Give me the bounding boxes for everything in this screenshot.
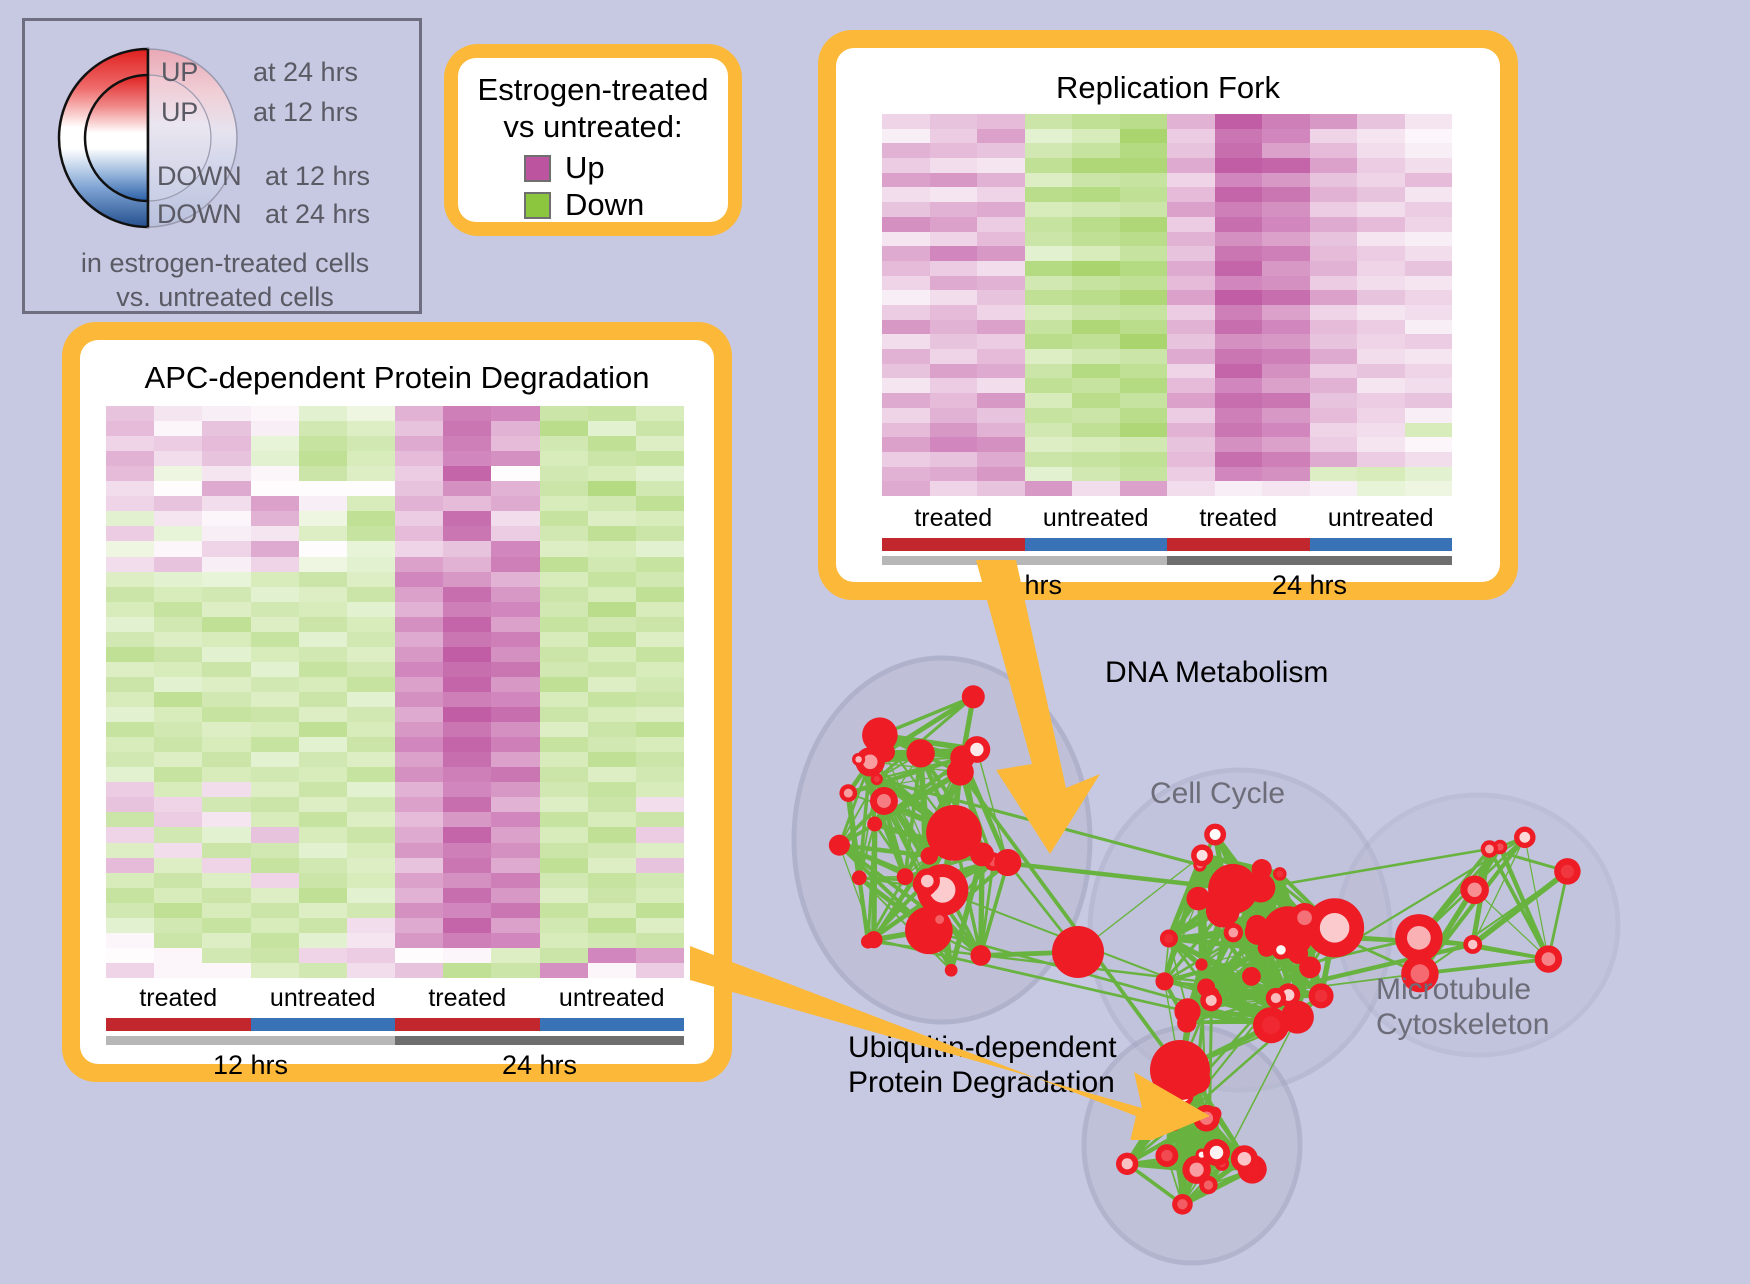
network-node[interactable]: [1252, 859, 1272, 879]
heatmap-cell: [491, 722, 539, 737]
heatmap-cell: [1262, 467, 1310, 482]
heatmap-cell: [540, 858, 588, 873]
heatmap-cell: [930, 452, 978, 467]
heatmap-cell: [882, 393, 930, 408]
heatmap-cell: [540, 587, 588, 602]
heatmap-cell: [1405, 467, 1453, 482]
condition-color-segment: [882, 538, 1025, 551]
updown-legend-title: Estrogen-treated vs untreated:: [458, 72, 728, 145]
network-node[interactable]: [867, 817, 882, 832]
heatmap-cell: [299, 918, 347, 933]
network-node[interactable]: [906, 739, 934, 767]
heatmap-cell: [202, 812, 250, 827]
heatmap-cell: [1072, 320, 1120, 335]
network-node[interactable]: [1271, 940, 1290, 959]
heatmap-cell: [588, 466, 636, 481]
heatmap-cell: [1262, 481, 1310, 496]
heatmap-cell: [930, 246, 978, 261]
heatmap-cell: [1405, 437, 1453, 452]
heatmap-cell: [347, 647, 395, 662]
network-node[interactable]: [839, 784, 857, 802]
heatmap-cell: [1262, 246, 1310, 261]
heatmap-cell: [1120, 261, 1168, 276]
heatmap-cell: [154, 557, 202, 572]
network-node[interactable]: [1514, 827, 1536, 849]
network-node[interactable]: [1231, 1145, 1258, 1172]
heatmap-cell: [347, 737, 395, 752]
heatmap-cell: [299, 587, 347, 602]
heatmap-cell: [540, 767, 588, 782]
heatmap-cell: [636, 617, 684, 632]
heatmap-cell: [1405, 408, 1453, 423]
heatmap-cell: [588, 903, 636, 918]
heatmap-cell: [977, 423, 1025, 438]
network-node[interactable]: [1535, 945, 1562, 972]
heatmap-cell: [540, 752, 588, 767]
heatmap-cell: [154, 481, 202, 496]
condition-color-segment: [1167, 538, 1310, 551]
heatmap-cell: [106, 722, 154, 737]
heatmap-cell: [251, 873, 299, 888]
heatmap-cell: [636, 647, 684, 662]
heatmap-cell: [154, 752, 202, 767]
heatmap-cell: [540, 496, 588, 511]
network-node[interactable]: [1463, 935, 1482, 954]
heatmap-cell: [1405, 378, 1453, 393]
heatmap-cell: [443, 827, 491, 842]
heatmap-cell: [588, 511, 636, 526]
heatmap-cell: [882, 364, 930, 379]
heatmap-cell: [1310, 481, 1358, 496]
heatmap-cell: [491, 451, 539, 466]
network-node[interactable]: [1266, 988, 1286, 1008]
heatmap-cell: [977, 290, 1025, 305]
heatmap-cell: [977, 467, 1025, 482]
condition-label: treated: [882, 504, 1025, 533]
network-node[interactable]: [1204, 824, 1226, 846]
replication-fork-heatmap: [882, 114, 1452, 496]
heatmap-cell: [1215, 187, 1263, 202]
colorwheel-footer-line1: in estrogen-treated cells: [25, 247, 425, 281]
heatmap-cell: [588, 827, 636, 842]
network-node[interactable]: [1309, 983, 1334, 1008]
network-node[interactable]: [870, 787, 898, 815]
apc-degradation-panel: APC-dependent Protein Degradation treate…: [62, 322, 732, 1082]
heatmap-cell: [1072, 276, 1120, 291]
heatmap-cell: [977, 187, 1025, 202]
heatmap-cell: [106, 662, 154, 677]
heatmap-cell: [540, 602, 588, 617]
heatmap-cell: [347, 496, 395, 511]
heatmap-cell: [154, 587, 202, 602]
heatmap-cell: [930, 290, 978, 305]
apc-degradation-heatmap: [106, 406, 684, 978]
heatmap-cell: [636, 436, 684, 451]
heatmap-cell: [1262, 276, 1310, 291]
heatmap-cell: [1025, 378, 1073, 393]
heatmap-cell: [1215, 452, 1263, 467]
network-node[interactable]: [1290, 903, 1319, 932]
heatmap-cell: [347, 677, 395, 692]
heatmap-cell: [1167, 423, 1215, 438]
heatmap-cell: [588, 722, 636, 737]
heatmap-cell: [202, 692, 250, 707]
heatmap-cell: [347, 466, 395, 481]
heatmap-cell: [347, 602, 395, 617]
heatmap-cell: [540, 617, 588, 632]
heatmap-cell: [588, 677, 636, 692]
heatmap-cell: [299, 812, 347, 827]
heatmap-cell: [930, 408, 978, 423]
heatmap-cell: [154, 406, 202, 421]
heatmap-cell: [106, 707, 154, 722]
heatmap-cell: [443, 541, 491, 556]
heatmap-cell: [1310, 437, 1358, 452]
heatmap-cell: [1215, 290, 1263, 305]
heatmap-cell: [251, 526, 299, 541]
heatmap-cell: [251, 888, 299, 903]
heatmap-cell: [395, 511, 443, 526]
heatmap-cell: [106, 421, 154, 436]
heatmap-cell: [251, 843, 299, 858]
network-node[interactable]: [871, 773, 883, 785]
heatmap-cell: [202, 948, 250, 963]
heatmap-cell: [202, 421, 250, 436]
heatmap-cell: [395, 737, 443, 752]
heatmap-cell: [636, 632, 684, 647]
heatmap-cell: [588, 557, 636, 572]
heatmap-cell: [1120, 305, 1168, 320]
heatmap-cell: [106, 692, 154, 707]
heatmap-cell: [1072, 481, 1120, 496]
heatmap-cell: [299, 602, 347, 617]
heatmap-cell: [395, 617, 443, 632]
heatmap-cell: [1120, 290, 1168, 305]
heatmap-cell: [1357, 202, 1405, 217]
heatmap-cell: [977, 158, 1025, 173]
heatmap-cell: [636, 496, 684, 511]
heatmap-cell: [251, 406, 299, 421]
heatmap-cell: [1262, 232, 1310, 247]
heatmap-cell: [588, 496, 636, 511]
heatmap-cell: [1405, 143, 1453, 158]
heatmap-cell: [636, 466, 684, 481]
heatmap-cell: [106, 812, 154, 827]
heatmap-cell: [636, 933, 684, 948]
heatmap-cell: [1167, 305, 1215, 320]
heatmap-cell: [251, 707, 299, 722]
heatmap-cell: [443, 888, 491, 903]
heatmap-cell: [636, 888, 684, 903]
heatmap-cell: [930, 114, 978, 129]
heatmap-cell: [299, 421, 347, 436]
heatmap-cell: [1310, 276, 1358, 291]
network-node[interactable]: [1286, 1015, 1301, 1030]
heatmap-cell: [106, 511, 154, 526]
heatmap-cell: [106, 948, 154, 963]
heatmap-cell: [1072, 158, 1120, 173]
heatmap-cell: [1262, 129, 1310, 144]
heatmap-cell: [1215, 129, 1263, 144]
heatmap-cell: [202, 827, 250, 842]
network-node[interactable]: [1116, 1153, 1138, 1175]
heatmap-cell: [1167, 217, 1215, 232]
heatmap-cell: [395, 662, 443, 677]
colorwheel-time-label-2: at 12 hrs: [265, 161, 370, 192]
heatmap-cell: [1167, 452, 1215, 467]
heatmap-cell: [882, 217, 930, 232]
heatmap-cell: [299, 963, 347, 978]
heatmap-cell: [1025, 364, 1073, 379]
heatmap-cell: [154, 933, 202, 948]
heatmap-cell: [882, 320, 930, 335]
heatmap-cell: [443, 406, 491, 421]
heatmap-cell: [882, 202, 930, 217]
heatmap-cell: [540, 481, 588, 496]
heatmap-cell: [491, 707, 539, 722]
heatmap-cell: [540, 873, 588, 888]
heatmap-cell: [1405, 232, 1453, 247]
heatmap-cell: [491, 873, 539, 888]
heatmap-cell: [930, 305, 978, 320]
heatmap-cell: [1357, 423, 1405, 438]
heatmap-cell: [1357, 467, 1405, 482]
heatmap-cell: [636, 722, 684, 737]
heatmap-cell: [1025, 290, 1073, 305]
heatmap-cell: [977, 202, 1025, 217]
heatmap-cell: [1025, 305, 1073, 320]
heatmap-cell: [1025, 276, 1073, 291]
heatmap-cell: [1120, 378, 1168, 393]
heatmap-cell: [1405, 320, 1453, 335]
heatmap-cell: [347, 692, 395, 707]
heatmap-cell: [1405, 334, 1453, 349]
network-node[interactable]: [1554, 858, 1581, 885]
heatmap-cell: [540, 541, 588, 556]
condition-color-segment: [1025, 538, 1168, 551]
heatmap-cell: [395, 918, 443, 933]
heatmap-cell: [1215, 305, 1263, 320]
heatmap-cell: [154, 812, 202, 827]
heatmap-cell: [540, 948, 588, 963]
heatmap-cell: [154, 496, 202, 511]
heatmap-cell: [1167, 114, 1215, 129]
heatmap-cell: [1405, 217, 1453, 232]
heatmap-cell: [540, 511, 588, 526]
heatmap-cell: [1215, 202, 1263, 217]
condition-label: untreated: [1310, 504, 1453, 533]
heatmap-cell: [395, 526, 443, 541]
heatmap-cell: [540, 782, 588, 797]
heatmap-cell: [491, 677, 539, 692]
heatmap-cell: [395, 843, 443, 858]
heatmap-cell: [588, 662, 636, 677]
network-node[interactable]: [829, 835, 850, 856]
heatmap-cell: [1120, 276, 1168, 291]
network-node[interactable]: [1155, 1144, 1178, 1167]
heatmap-cell: [251, 436, 299, 451]
heatmap-cell: [1310, 217, 1358, 232]
heatmap-cell: [1215, 393, 1263, 408]
heatmap-cell: [1405, 129, 1453, 144]
updown-legend-title-line2: vs untreated:: [458, 109, 728, 146]
heatmap-cell: [1072, 467, 1120, 482]
heatmap-cell: [347, 812, 395, 827]
heatmap-cell: [443, 782, 491, 797]
heatmap-cell: [347, 526, 395, 541]
heatmap-cell: [395, 481, 443, 496]
heatmap-cell: [1025, 320, 1073, 335]
heatmap-cell: [251, 587, 299, 602]
heatmap-cell: [1025, 437, 1073, 452]
heatmap-cell: [1025, 467, 1073, 482]
heatmap-cell: [347, 451, 395, 466]
heatmap-cell: [154, 632, 202, 647]
heatmap-cell: [106, 827, 154, 842]
heatmap-cell: [1025, 143, 1073, 158]
heatmap-cell: [1310, 364, 1358, 379]
time-color-segment: [106, 1036, 395, 1045]
network-node[interactable]: [1460, 875, 1489, 904]
heatmap-cell: [491, 948, 539, 963]
heatmap-cell: [1405, 276, 1453, 291]
heatmap-cell: [1310, 290, 1358, 305]
heatmap-cell: [251, 421, 299, 436]
network-node[interactable]: [1191, 844, 1213, 866]
network-node[interactable]: [921, 847, 938, 864]
heatmap-cell: [251, 752, 299, 767]
heatmap-cell: [1405, 187, 1453, 202]
network-node[interactable]: [1199, 1176, 1217, 1194]
heatmap-cell: [882, 467, 930, 482]
legend-label-down: Down: [565, 187, 644, 223]
heatmap-cell: [588, 858, 636, 873]
network-node[interactable]: [1172, 1194, 1193, 1215]
heatmap-cell: [882, 261, 930, 276]
heatmap-cell: [1215, 408, 1263, 423]
heatmap-cell: [882, 114, 930, 129]
heatmap-cell: [106, 843, 154, 858]
heatmap-cell: [106, 406, 154, 421]
heatmap-cell: [491, 662, 539, 677]
heatmap-cell: [251, 933, 299, 948]
heatmap-cell: [977, 232, 1025, 247]
heatmap-cell: [930, 320, 978, 335]
heatmap-cell: [202, 722, 250, 737]
heatmap-cell: [588, 526, 636, 541]
heatmap-cell: [347, 858, 395, 873]
heatmap-cell: [443, 722, 491, 737]
heatmap-cell: [443, 662, 491, 677]
heatmap-cell: [154, 707, 202, 722]
heatmap-cell: [588, 843, 636, 858]
heatmap-cell: [202, 496, 250, 511]
heatmap-cell: [1072, 408, 1120, 423]
heatmap-cell: [1310, 305, 1358, 320]
heatmap-cell: [491, 617, 539, 632]
network-node[interactable]: [852, 870, 867, 885]
condition-label: treated: [1167, 504, 1310, 533]
network-node[interactable]: [1481, 840, 1498, 857]
heatmap-cell: [1167, 158, 1215, 173]
heatmap-cell: [1262, 349, 1310, 364]
heatmap-cell: [1357, 276, 1405, 291]
heatmap-cell: [977, 114, 1025, 129]
heatmap-cell: [1072, 423, 1120, 438]
heatmap-cell: [491, 888, 539, 903]
heatmap-cell: [1120, 129, 1168, 144]
heatmap-cell: [202, 647, 250, 662]
heatmap-cell: [154, 451, 202, 466]
heatmap-cell: [636, 782, 684, 797]
heatmap-cell: [1357, 481, 1405, 496]
heatmap-cell: [636, 451, 684, 466]
heatmap-cell: [395, 903, 443, 918]
heatmap-cell: [154, 541, 202, 556]
network-node[interactable]: [1288, 944, 1308, 964]
heatmap-cell: [299, 827, 347, 842]
heatmap-cell: [540, 963, 588, 978]
heatmap-cell: [1357, 320, 1405, 335]
network-node[interactable]: [1203, 1139, 1230, 1166]
heatmap-cell: [347, 421, 395, 436]
heatmap-cell: [1025, 349, 1073, 364]
heatmap-cell: [1357, 217, 1405, 232]
network-node[interactable]: [1186, 887, 1210, 911]
heatmap-cell: [1262, 202, 1310, 217]
heatmap-cell: [154, 617, 202, 632]
heatmap-cell: [443, 526, 491, 541]
heatmap-cell: [106, 767, 154, 782]
heatmap-cell: [1120, 423, 1168, 438]
heatmap-cell: [1167, 129, 1215, 144]
heatmap-cell: [1072, 202, 1120, 217]
network-node[interactable]: [897, 868, 914, 885]
heatmap-cell: [540, 451, 588, 466]
condition-label: untreated: [251, 984, 396, 1013]
heatmap-cell: [636, 827, 684, 842]
heatmap-cell: [1025, 158, 1073, 173]
heatmap-cell: [299, 843, 347, 858]
heatmap-cell: [1072, 305, 1120, 320]
heatmap-cell: [636, 511, 684, 526]
heatmap-cell: [1357, 290, 1405, 305]
heatmap-cell: [1357, 173, 1405, 188]
heatmap-cell: [1405, 481, 1453, 496]
heatmap-cell: [106, 496, 154, 511]
heatmap-cell: [251, 858, 299, 873]
heatmap-cell: [1357, 232, 1405, 247]
network-node[interactable]: [915, 868, 940, 893]
heatmap-cell: [299, 436, 347, 451]
heatmap-cell: [106, 541, 154, 556]
heatmap-cell: [882, 246, 930, 261]
heatmap-cell: [588, 617, 636, 632]
network-node[interactable]: [1273, 867, 1287, 881]
heatmap-cell: [882, 349, 930, 364]
heatmap-cell: [443, 843, 491, 858]
network-node[interactable]: [1395, 914, 1442, 961]
heatmap-cell: [106, 557, 154, 572]
replication-fork-panel: Replication Fork treateduntreatedtreated…: [818, 30, 1518, 600]
heatmap-cell: [347, 632, 395, 647]
heatmap-cell: [347, 707, 395, 722]
heatmap-cell: [443, 511, 491, 526]
heatmap-cell: [491, 587, 539, 602]
heatmap-cell: [930, 129, 978, 144]
heatmap-cell: [588, 752, 636, 767]
network-node[interactable]: [852, 753, 865, 766]
